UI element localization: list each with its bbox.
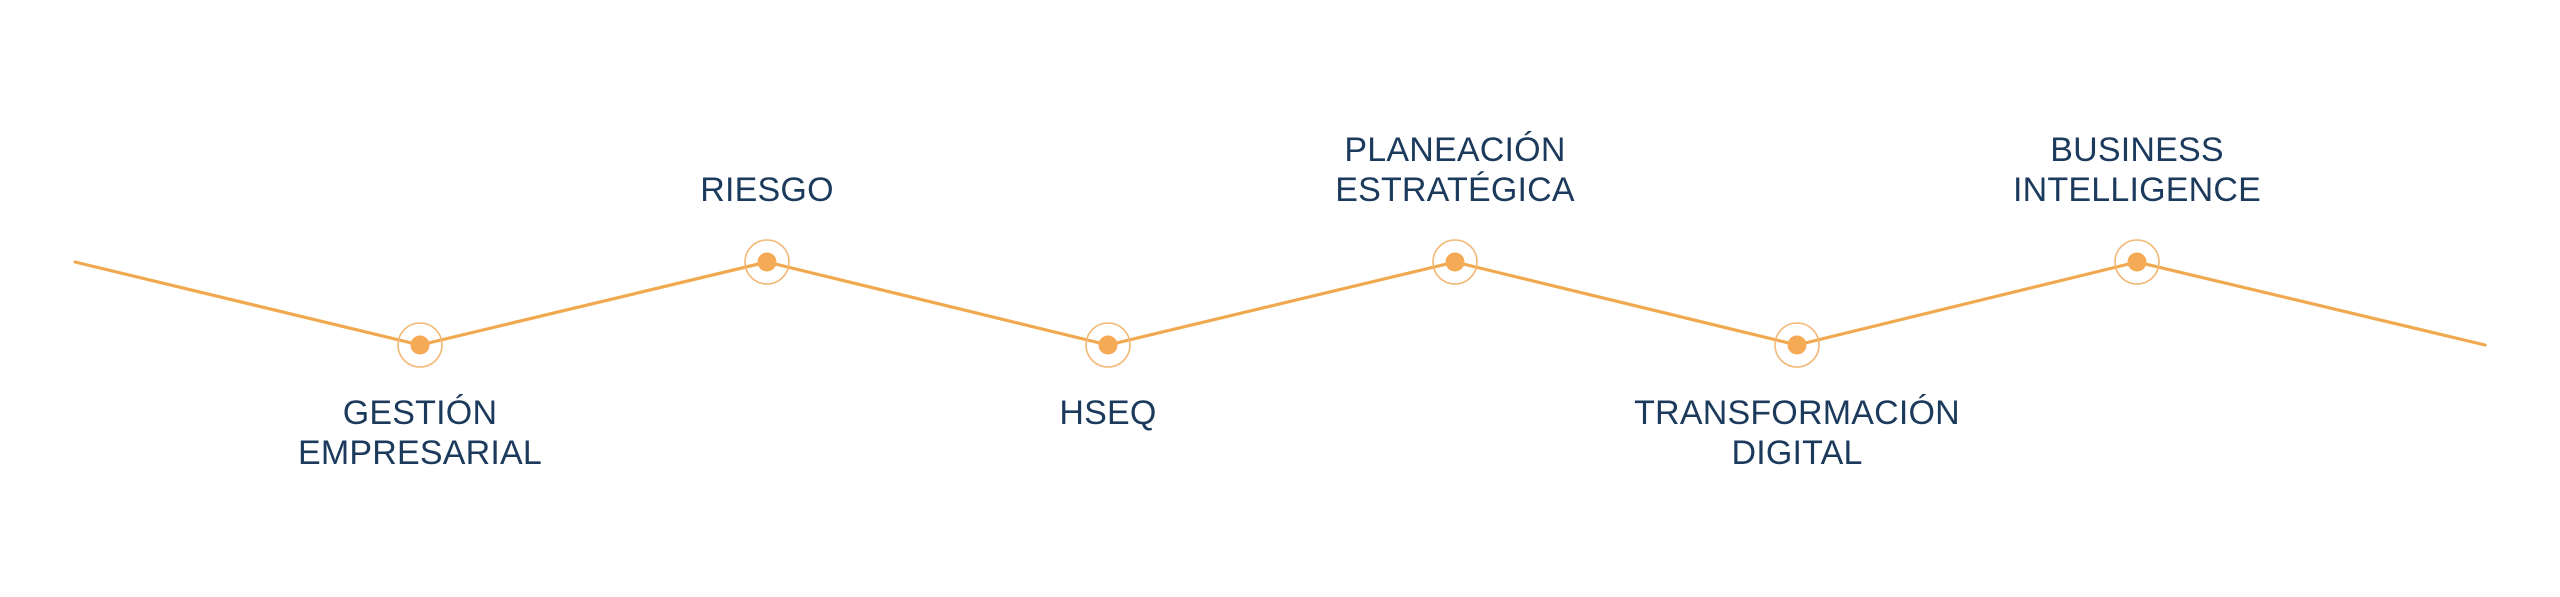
timeline-polyline bbox=[75, 262, 2485, 345]
node-label-line: PLANEACIÓN bbox=[1335, 130, 1575, 170]
node-label-line: HSEQ bbox=[1059, 393, 1156, 433]
node-label-planeacion-estrategica: PLANEACIÓNESTRATÉGICA bbox=[1335, 130, 1575, 210]
node-label-transformacion-digital: TRANSFORMACIÓNDIGITAL bbox=[1634, 393, 1960, 473]
timeline-node-marker[interactable] bbox=[1775, 323, 1819, 367]
timeline-node-marker[interactable] bbox=[2115, 240, 2159, 284]
node-label-line: GESTIÓN bbox=[298, 393, 542, 433]
node-dot-icon bbox=[1788, 336, 1807, 355]
zigzag-timeline-canvas: GESTIÓNEMPRESARIALRIESGOHSEQPLANEACIÓNES… bbox=[0, 0, 2560, 597]
timeline-graphic bbox=[0, 0, 2560, 597]
node-dot-icon bbox=[1446, 253, 1465, 272]
node-label-line: DIGITAL bbox=[1634, 433, 1960, 473]
node-label-riesgo: RIESGO bbox=[700, 170, 833, 210]
node-label-line: EMPRESARIAL bbox=[298, 433, 542, 473]
node-label-business-intelligence: BUSINESSINTELLIGENCE bbox=[2013, 130, 2261, 210]
timeline-node-marker[interactable] bbox=[1433, 240, 1477, 284]
node-label-line: INTELLIGENCE bbox=[2013, 170, 2261, 210]
node-label-line: TRANSFORMACIÓN bbox=[1634, 393, 1960, 433]
node-dot-icon bbox=[411, 336, 430, 355]
node-dot-icon bbox=[758, 253, 777, 272]
timeline-node-marker[interactable] bbox=[398, 323, 442, 367]
node-label-gestion-empresarial: GESTIÓNEMPRESARIAL bbox=[298, 393, 542, 473]
timeline-node-marker[interactable] bbox=[745, 240, 789, 284]
node-label-hseq: HSEQ bbox=[1059, 393, 1156, 433]
timeline-node-marker[interactable] bbox=[1086, 323, 1130, 367]
node-label-line: BUSINESS bbox=[2013, 130, 2261, 170]
node-label-line: ESTRATÉGICA bbox=[1335, 170, 1575, 210]
node-dot-icon bbox=[1099, 336, 1118, 355]
node-label-line: RIESGO bbox=[700, 170, 833, 210]
node-dot-icon bbox=[2128, 253, 2147, 272]
